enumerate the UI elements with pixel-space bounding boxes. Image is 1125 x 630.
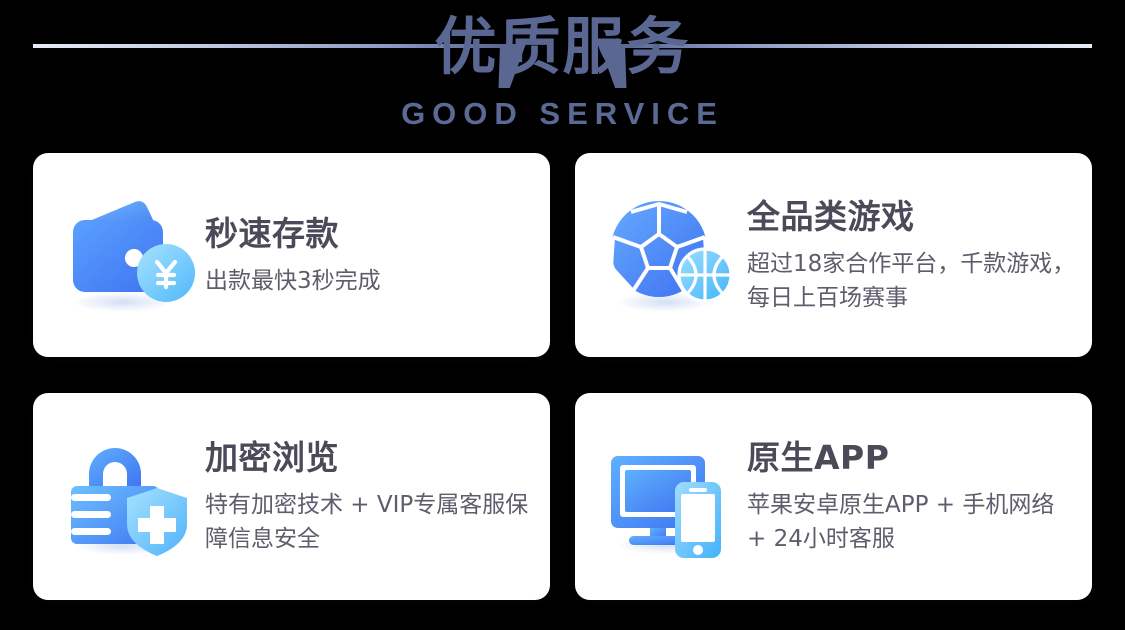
feature-card-encryption[interactable]: 加密浏览 特有加密技术 + VIP专属客服保障信息安全 bbox=[33, 393, 550, 600]
feature-card-games[interactable]: 全品类游戏 超过18家合作平台，千款游戏，每日上百场赛事 bbox=[575, 153, 1092, 357]
card-text: 秒速存款 出款最快3秒完成 bbox=[195, 213, 395, 298]
card-description: 超过18家合作平台，千款游戏，每日上百场赛事 bbox=[747, 247, 1078, 315]
card-description: 特有加密技术 + VIP专属客服保障信息安全 bbox=[205, 488, 536, 556]
feature-card-deposit[interactable]: 秒速存款 出款最快3秒完成 bbox=[33, 153, 550, 357]
card-title: 原生APP bbox=[747, 437, 1078, 479]
card-description: 苹果安卓原生APP + 手机网络 + 24小时客服 bbox=[747, 488, 1078, 556]
lock-shield-icon bbox=[59, 432, 195, 562]
card-title: 全品类游戏 bbox=[747, 196, 1078, 238]
feature-card-native-app[interactable]: 原生APP 苹果安卓原生APP + 手机网络 + 24小时客服 bbox=[575, 393, 1092, 600]
card-text: 全品类游戏 超过18家合作平台，千款游戏，每日上百场赛事 bbox=[737, 196, 1092, 315]
feature-card-grid: 秒速存款 出款最快3秒完成 bbox=[33, 153, 1092, 600]
page-subtitle: GOOD SERVICE bbox=[0, 96, 1125, 132]
monitor-phone-icon bbox=[601, 432, 737, 562]
wallet-yen-icon bbox=[59, 190, 195, 320]
card-text: 原生APP 苹果安卓原生APP + 手机网络 + 24小时客服 bbox=[737, 437, 1092, 556]
card-description: 出款最快3秒完成 bbox=[205, 264, 381, 298]
card-text: 加密浏览 特有加密技术 + VIP专属客服保障信息安全 bbox=[195, 437, 550, 556]
page-title: 优质服务 bbox=[0, 8, 1125, 86]
card-title: 加密浏览 bbox=[205, 437, 536, 479]
promo-banner: 优质服务 GOOD SERVICE bbox=[0, 0, 1125, 630]
soccer-basketball-icon bbox=[601, 190, 737, 320]
header: 优质服务 GOOD SERVICE bbox=[0, 0, 1125, 148]
card-title: 秒速存款 bbox=[205, 213, 381, 255]
